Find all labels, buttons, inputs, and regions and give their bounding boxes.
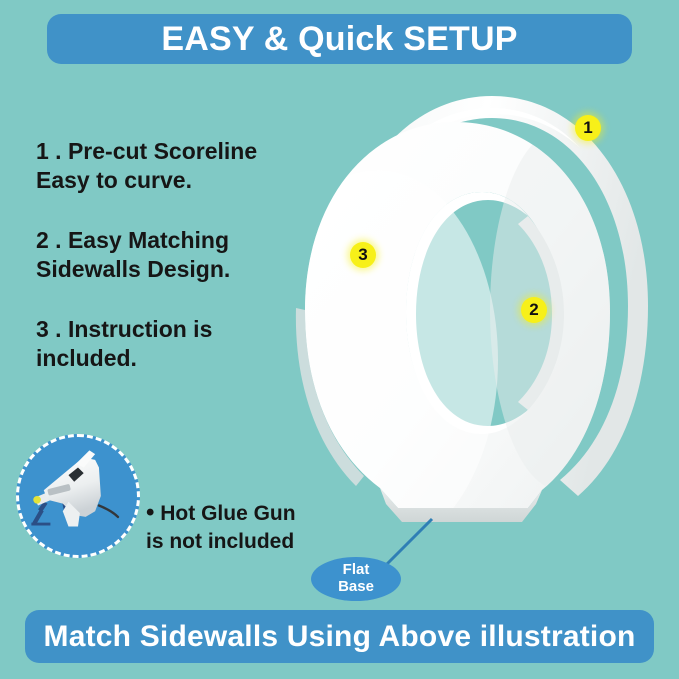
product-infographic: EASY & Quick SETUP — [0, 0, 679, 679]
badge-3-label: 3 — [358, 245, 367, 265]
feature-list: 1 . Pre-cut Scoreline Easy to curve. 2 .… — [36, 137, 316, 374]
badge-1: 1 — [575, 115, 601, 141]
feature-item-1-line1: 1 . Pre-cut Scoreline — [36, 137, 316, 166]
letter-zero-illustration — [260, 60, 679, 560]
glue-gun-badge — [16, 434, 140, 558]
top-banner: EASY & Quick SETUP — [47, 14, 632, 64]
flat-base-line1: Flat — [343, 562, 370, 579]
feature-item-2-line1: 2 . Easy Matching — [36, 226, 316, 255]
feature-item-3-line1: 3 . Instruction is — [36, 315, 316, 344]
feature-item-2-line2: Sidewalls Design. — [36, 255, 316, 284]
feature-item-3: 3 . Instruction is included. — [36, 315, 316, 374]
glue-gun-note-line1: • Hot Glue Gun — [146, 497, 346, 528]
bottom-banner-text: Match Sidewalls Using Above illustration — [44, 620, 636, 654]
feature-item-1: 1 . Pre-cut Scoreline Easy to curve. — [36, 137, 316, 196]
feature-item-2: 2 . Easy Matching Sidewalls Design. — [36, 226, 316, 285]
flat-base-callout: Flat Base — [311, 557, 401, 601]
bottom-banner: Match Sidewalls Using Above illustration — [25, 610, 654, 663]
feature-item-3-line2: included. — [36, 344, 316, 373]
bullet-icon: • — [146, 499, 154, 526]
top-banner-text: EASY & Quick SETUP — [161, 20, 517, 59]
glue-gun-note-line2: is not included — [146, 528, 346, 555]
flat-base-line2: Base — [338, 579, 374, 596]
badge-3: 3 — [350, 242, 376, 268]
badge-2-label: 2 — [529, 300, 538, 320]
feature-item-1-line2: Easy to curve. — [36, 166, 316, 195]
glue-gun-note-text1: Hot Glue Gun — [160, 502, 295, 525]
glue-gun-note: • Hot Glue Gun is not included — [146, 497, 346, 555]
hot-glue-gun-icon — [19, 437, 137, 555]
badge-2: 2 — [521, 297, 547, 323]
badge-1-label: 1 — [583, 118, 592, 138]
